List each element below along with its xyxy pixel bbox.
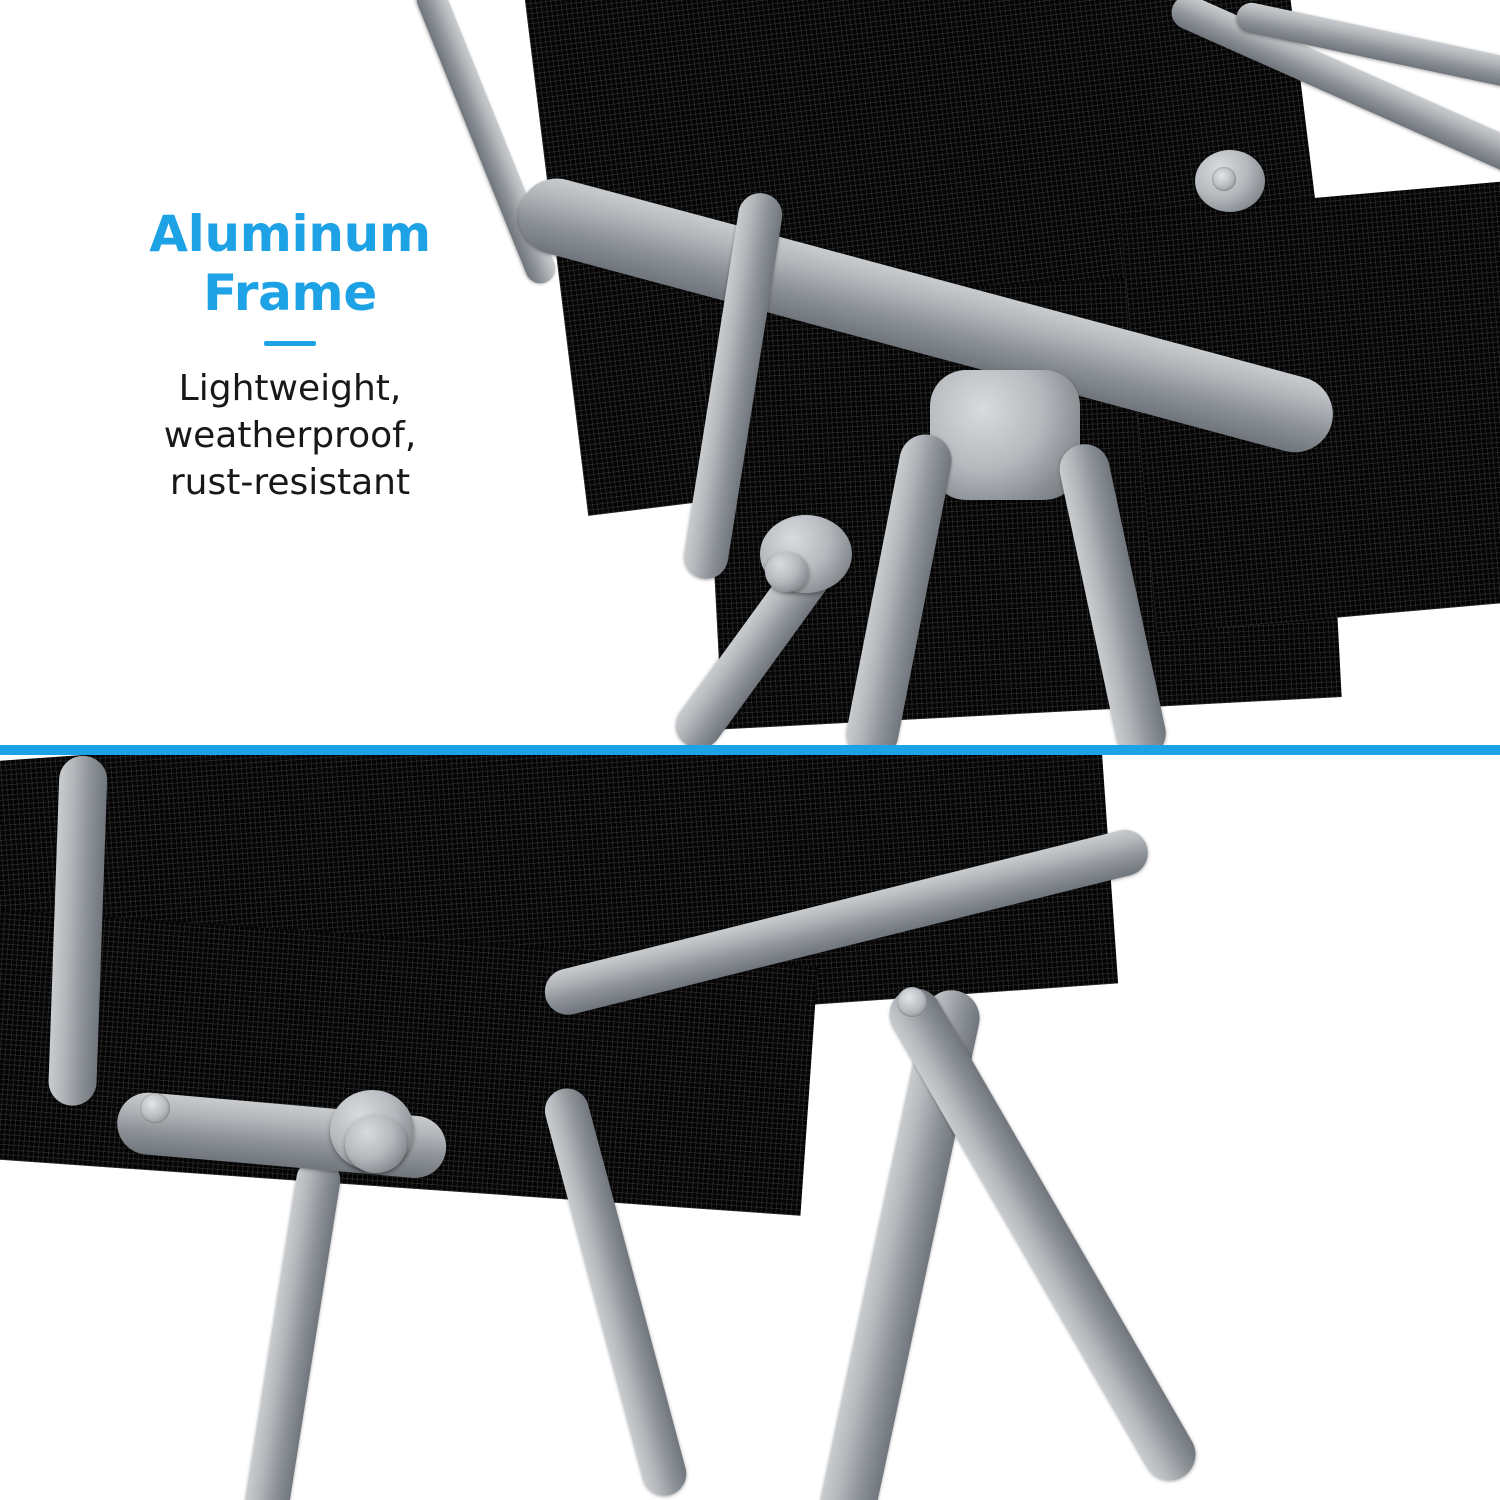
blue-horizontal-divider (0, 745, 1500, 755)
armrest-pivot-hub (930, 370, 1080, 500)
callout-body-aluminum-frame: Lightweight, weatherproof, rust-resistan… (90, 366, 490, 506)
top-photo-panel: Aluminum Frame Lightweight, weatherproof… (0, 0, 1500, 745)
callout-aluminum-frame: Aluminum Frame Lightweight, weatherproof… (90, 205, 490, 506)
product-feature-image: Aluminum Frame Lightweight, weatherproof… (0, 0, 1500, 1500)
recline-adjust-knob-cap (765, 552, 809, 592)
seat-adjust-knob-cap (345, 1115, 407, 1173)
hinge-screw (1212, 167, 1236, 191)
callout-heading-aluminum-frame: Aluminum Frame (90, 205, 490, 323)
left-pivot-screw (140, 1093, 170, 1123)
left-leg-tube (241, 1155, 344, 1500)
chair-closeup-bottom (0, 755, 1500, 1500)
callout-rule-top (264, 341, 316, 346)
bottom-photo-panel: Powder Coated Finish Scratch-resistant, … (0, 755, 1500, 1500)
right-pivot-screw (897, 987, 927, 1017)
